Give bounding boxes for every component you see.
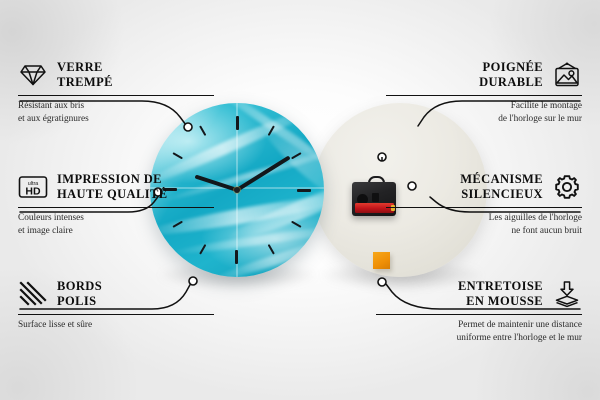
svg-text:HD: HD <box>25 185 41 197</box>
callout-description: Surface lisse et sûre <box>18 319 214 331</box>
callout-header: ultra HD IMPRESSION DE HAUTE QUALITÉ <box>18 170 214 204</box>
hands-center-cap <box>234 187 240 193</box>
callout-title: POIGNÉE DURABLE <box>479 60 543 90</box>
hanging-frame-icon <box>552 60 582 90</box>
foam-spacer-pad <box>373 252 390 269</box>
hour-marker <box>236 190 238 264</box>
infographic-stage: VERRE TREMPÉ Résistant aux bris et aux é… <box>0 0 600 400</box>
hour-marker <box>236 116 238 190</box>
callout-divider <box>386 95 582 96</box>
gear-icon <box>552 172 582 202</box>
callout-header: POIGNÉE DURABLE <box>386 58 582 92</box>
callout-description: Permet de maintenir une distance uniform… <box>376 319 582 344</box>
callout-verre-trempe: VERRE TREMPÉ Résistant aux bris et aux é… <box>18 58 214 125</box>
callout-title: IMPRESSION DE HAUTE QUALITÉ <box>57 172 167 202</box>
callout-header: VERRE TREMPÉ <box>18 58 214 92</box>
mechanism-switch <box>372 193 379 202</box>
callout-title: ENTRETOISE EN MOUSSE <box>458 279 543 309</box>
callout-divider <box>18 95 214 96</box>
callout-title: VERRE TREMPÉ <box>57 60 113 90</box>
ultra-hd-icon: ultra HD <box>18 172 48 202</box>
callout-header: ENTRETOISE EN MOUSSE <box>376 277 582 311</box>
callout-description: Les aiguilles de l'horloge ne font aucun… <box>386 212 582 237</box>
callout-description: Facilite le montage de l'horloge sur le … <box>386 100 582 125</box>
callout-divider <box>386 207 582 208</box>
callout-poignee-durable: POIGNÉE DURABLE Facilite le montage de l… <box>386 58 582 125</box>
callout-impression-haute-qualite: ultra HD IMPRESSION DE HAUTE QUALITÉ Cou… <box>18 170 214 237</box>
callout-mecanisme-silencieux: MÉCANISME SILENCIEUX Les aiguilles de l'… <box>386 170 582 237</box>
callout-title: BORDS POLIS <box>57 279 102 309</box>
diamond-icon <box>18 60 48 90</box>
callout-title: MÉCANISME SILENCIEUX <box>460 172 543 202</box>
callout-divider <box>18 207 214 208</box>
hour-marker <box>237 189 311 191</box>
diagonal-lines-icon <box>18 279 48 309</box>
callout-description: Résistant aux bris et aux égratignures <box>18 100 214 125</box>
callout-entretoise-en-mousse: ENTRETOISE EN MOUSSE Permet de maintenir… <box>376 277 582 344</box>
callout-description: Couleurs intenses et image claire <box>18 212 214 237</box>
foam-spacer-icon <box>552 279 582 309</box>
callout-header: MÉCANISME SILENCIEUX <box>386 170 582 204</box>
callout-header: BORDS POLIS <box>18 277 214 311</box>
callout-bords-polis: BORDS POLIS Surface lisse et sûre <box>18 277 214 332</box>
callout-divider <box>376 314 582 315</box>
callout-divider <box>18 314 214 315</box>
